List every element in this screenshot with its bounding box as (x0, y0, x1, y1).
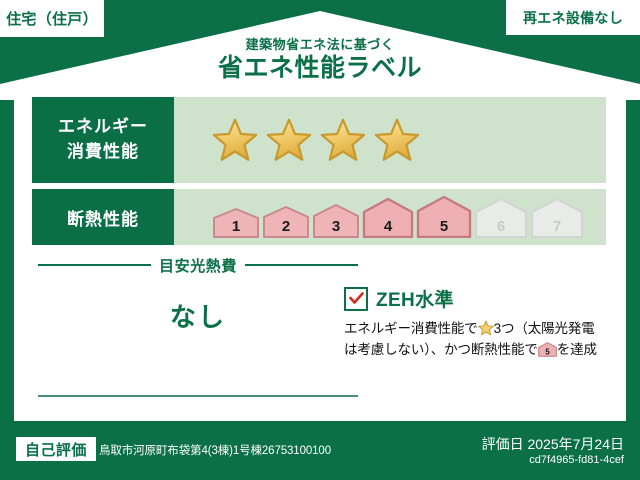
zeh-desc-star-count: 3つ（太陽光発電 (494, 321, 595, 336)
building-type-tag: 住宅（住戸） (0, 0, 104, 37)
energy-performance-row: エネルギー 消費性能 (32, 97, 606, 183)
zeh-desc-part2: は考慮しない）、かつ断熱性能で (344, 342, 538, 357)
evaluation-date-label: 評価日 (482, 436, 524, 452)
insulation-performance-value-cell: 1 2 3 4 (174, 189, 606, 245)
building-type-text: 住宅（住戸） (6, 8, 98, 29)
grade-house-4: 4 (362, 198, 414, 238)
grade-house-label: 5 (416, 218, 472, 235)
energy-label-line1: エネルギー (58, 115, 148, 140)
energy-performance-value-cell (174, 97, 606, 183)
grade-house-label: 7 (530, 218, 584, 235)
insulation-performance-row: 断熱性能 1 2 3 (32, 189, 606, 245)
zeh-heading: ZEH水準 (344, 285, 612, 312)
zeh-description: エネルギー消費性能で 3つ（太陽光発電 は考慮しない）、かつ断熱性能で 5 を達… (344, 319, 612, 361)
star-icon (212, 117, 258, 163)
grade-house-label: 6 (474, 218, 528, 235)
label-uid: cd7f4965-fd81-4cef (529, 454, 624, 466)
zeh-title: ZEH水準 (376, 285, 454, 312)
evaluation-type-badge: 自己評価 (16, 437, 96, 461)
evaluation-date-value: 2025年7月24日 (527, 436, 624, 452)
energy-performance-label-cell: エネルギー 消費性能 (32, 97, 174, 183)
grade-house-label: 3 (312, 218, 360, 235)
grade-house-label: 2 (262, 218, 310, 235)
label-footer: 自己評価 鳥取市河原町布袋第4(3棟)1号棟26753100100 評価日 20… (0, 423, 640, 480)
grade-house-label: 1 (212, 218, 260, 235)
energy-performance-label: 住宅（住戸） 再エネ設備なし 建築物省エネ法に基づく 省エネ性能ラベル エネルギ… (0, 0, 640, 480)
label-body-panel: エネルギー 消費性能 (14, 85, 626, 421)
zeh-desc-part1: エネルギー消費性能で (344, 321, 478, 336)
star-icon (266, 117, 312, 163)
insulation-grade-scale: 1 2 3 4 (174, 196, 584, 238)
zeh-checkbox[interactable] (344, 287, 368, 311)
grade-house-2: 2 (262, 206, 310, 238)
grade-house-1: 1 (212, 208, 260, 238)
grade-house-inline-icon: 5 (538, 341, 557, 358)
property-address: 鳥取市河原町布袋第4(3棟)1号棟26753100100 (99, 442, 331, 458)
zeh-desc-part3: を達成 (557, 342, 597, 357)
renewable-energy-tag: 再エネ設備なし (506, 0, 640, 35)
utility-cost-heading-text: 目安光熱費 (159, 255, 237, 276)
grade-house-label: 4 (362, 218, 414, 235)
zeh-block: ZEH水準 エネルギー消費性能で 3つ（太陽光発電 は考慮しない）、かつ断熱性能… (344, 285, 612, 361)
check-icon (349, 292, 364, 305)
grade-house-6: 6 (474, 198, 528, 238)
star-rating (174, 117, 420, 163)
renewable-energy-text: 再エネ設備なし (523, 8, 623, 28)
heading-rule-right (245, 264, 358, 266)
evaluation-date: 評価日 2025年7月24日 (482, 434, 624, 454)
grade-house-7: 7 (530, 198, 584, 238)
insulation-performance-label-cell: 断熱性能 (32, 189, 174, 245)
heading-rule-left (38, 264, 151, 266)
insulation-label-text: 断熱性能 (67, 205, 139, 230)
utility-cost-heading: 目安光熱費 (38, 257, 358, 273)
svg-text:5: 5 (545, 347, 550, 356)
star-icon (374, 117, 420, 163)
energy-label-line2: 消費性能 (67, 140, 139, 165)
grade-house-5: 5 (416, 196, 472, 238)
star-icon (478, 320, 494, 336)
utility-cost-value: なし (38, 297, 358, 334)
section-divider (38, 395, 358, 397)
grade-house-3: 3 (312, 204, 360, 238)
star-icon (320, 117, 366, 163)
